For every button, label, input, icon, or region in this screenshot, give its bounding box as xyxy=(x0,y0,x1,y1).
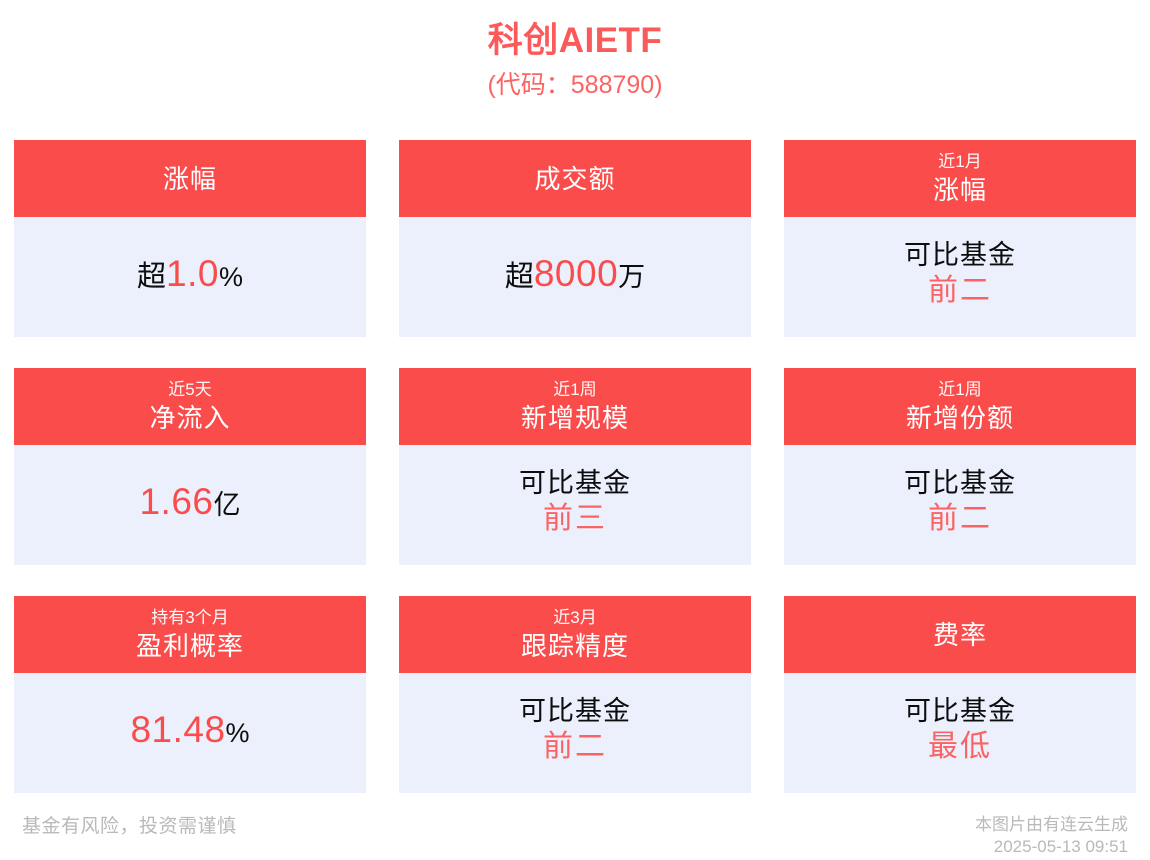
metric-card-body: 可比基金 前二 xyxy=(399,673,751,793)
metric-card: 近5天 净流入 1.66 亿 xyxy=(14,368,366,565)
metric-card-period: 近5天 xyxy=(168,379,211,401)
metric-card: 近3月 跟踪精度 可比基金 前二 xyxy=(399,596,751,793)
metric-rank-value: 前二 xyxy=(928,500,992,538)
metric-value-number: 1.66 xyxy=(139,481,213,524)
metric-value-prefix: 超 xyxy=(505,261,534,294)
metric-card-header: 持有3个月 盈利概率 xyxy=(14,596,366,673)
metric-rank-value: 前三 xyxy=(543,500,607,538)
metric-card: 近1周 新增规模 可比基金 前三 xyxy=(399,368,751,565)
metric-card-body: 超 1.0 % xyxy=(14,217,366,337)
metric-card: 近1周 新增份额 可比基金 前二 xyxy=(784,368,1136,565)
metric-rank-scope: 可比基金 xyxy=(904,466,1016,500)
metric-value-line: 超 8000 万 xyxy=(505,253,645,296)
metric-card-header: 近5天 净流入 xyxy=(14,368,366,445)
metric-card-body: 可比基金 前三 xyxy=(399,445,751,565)
metric-card-header: 涨幅 xyxy=(14,140,366,217)
metric-rank-value: 最低 xyxy=(928,728,992,766)
metric-value-prefix: 超 xyxy=(137,261,166,294)
metric-value-suffix: % xyxy=(219,262,243,293)
metric-card: 持有3个月 盈利概率 81.48 % xyxy=(14,596,366,793)
fund-metrics-poster: 科创AIETF (代码：588790) 涨幅 超 1.0 % 成交额 xyxy=(0,0,1150,860)
metric-card: 近1月 涨幅 可比基金 前二 xyxy=(784,140,1136,337)
poster-footer: 基金有风险，投资需谨慎 本图片由有连云生成 2025-05-13 09:51 xyxy=(0,800,1150,860)
metric-card-header: 近3月 跟踪精度 xyxy=(399,596,751,673)
metric-value-line: 1.66 亿 xyxy=(139,481,240,524)
metric-card-header: 近1周 新增规模 xyxy=(399,368,751,445)
metric-card-body: 81.48 % xyxy=(14,673,366,793)
metric-card-title: 净流入 xyxy=(149,401,230,435)
metric-rank-scope: 可比基金 xyxy=(904,238,1016,272)
fund-code: (代码：588790) xyxy=(0,66,1150,104)
metric-card-period: 持有3个月 xyxy=(151,607,228,629)
metric-card-title: 费率 xyxy=(933,618,987,652)
metric-card-title: 新增份额 xyxy=(906,401,1014,435)
metric-card-period: 近1周 xyxy=(938,379,981,401)
generator-info: 本图片由有连云生成 2025-05-13 09:51 xyxy=(975,814,1128,858)
metric-rank-scope: 可比基金 xyxy=(519,466,631,500)
poster-header: 科创AIETF (代码：588790) xyxy=(0,0,1150,104)
risk-disclaimer: 基金有风险，投资需谨慎 xyxy=(22,814,237,840)
metric-value-number: 81.48 xyxy=(130,709,225,752)
metric-value-number: 8000 xyxy=(534,253,618,296)
metric-card: 涨幅 超 1.0 % xyxy=(14,140,366,337)
metric-card-header: 费率 xyxy=(784,596,1136,673)
metric-card-body: 1.66 亿 xyxy=(14,445,366,565)
metric-card-header: 近1周 新增份额 xyxy=(784,368,1136,445)
metric-value-line: 81.48 % xyxy=(130,709,249,752)
metric-value-line: 超 1.0 % xyxy=(137,253,243,296)
page-title: 科创AIETF xyxy=(0,18,1150,64)
metric-card-body: 可比基金 前二 xyxy=(784,217,1136,337)
metric-card-header: 近1月 涨幅 xyxy=(784,140,1136,217)
metric-value-suffix: 万 xyxy=(618,262,645,293)
metric-card: 费率 可比基金 最低 xyxy=(784,596,1136,793)
metric-card-title: 成交额 xyxy=(534,162,615,196)
metric-card-title: 涨幅 xyxy=(163,162,217,196)
metric-value-suffix: 亿 xyxy=(214,490,241,521)
metric-card: 成交额 超 8000 万 xyxy=(399,140,751,337)
metric-card-grid: 涨幅 超 1.0 % 成交额 超 8000 万 xyxy=(14,140,1136,793)
metric-card-title: 跟踪精度 xyxy=(521,629,629,663)
metric-value-number: 1.0 xyxy=(166,253,219,296)
metric-rank-value: 前二 xyxy=(543,728,607,766)
metric-card-period: 近1月 xyxy=(938,151,981,173)
metric-card-period: 近1周 xyxy=(553,379,596,401)
metric-rank-value: 前二 xyxy=(928,272,992,310)
metric-card-title: 涨幅 xyxy=(933,173,987,207)
metric-card-body: 可比基金 前二 xyxy=(784,445,1136,565)
metric-rank-scope: 可比基金 xyxy=(519,694,631,728)
metric-card-header: 成交额 xyxy=(399,140,751,217)
generator-source: 本图片由有连云生成 xyxy=(975,814,1128,836)
metric-card-body: 超 8000 万 xyxy=(399,217,751,337)
metric-card-body: 可比基金 最低 xyxy=(784,673,1136,793)
generated-timestamp: 2025-05-13 09:51 xyxy=(975,836,1128,858)
metric-rank-scope: 可比基金 xyxy=(904,694,1016,728)
metric-value-suffix: % xyxy=(226,718,250,749)
metric-card-period: 近3月 xyxy=(553,607,596,629)
metric-card-title: 新增规模 xyxy=(521,401,629,435)
metric-card-title: 盈利概率 xyxy=(136,629,244,663)
